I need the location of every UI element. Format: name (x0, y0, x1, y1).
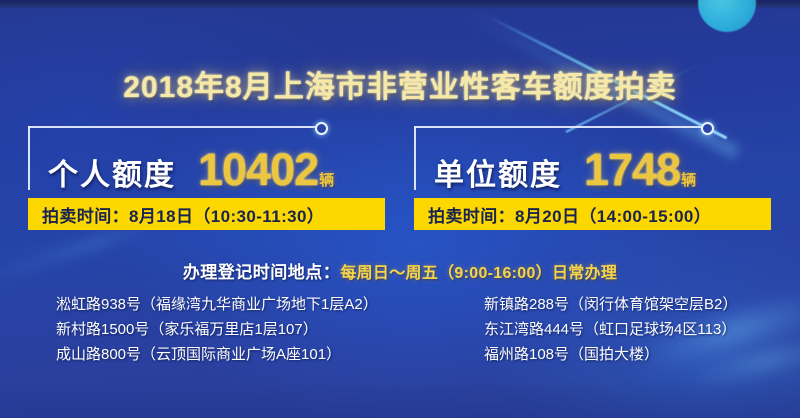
quota-label: 个人额度 (48, 150, 176, 194)
registration-line: 办理登记时间地点：每周日～周五（9:00-16:00）日常办理 (0, 258, 800, 283)
auction-time-text: 拍卖时间：8月20日（14:00-15:00） (428, 202, 711, 227)
address-item: 新镇路288号（闵行体育馆架空层B2） (484, 292, 737, 317)
auction-poster: 2018年8月上海市非营业性客车额度拍卖 个人额度 10402 辆 拍卖时间：8… (0, 0, 800, 418)
page-title: 2018年8月上海市非营业性客车额度拍卖 (0, 62, 800, 106)
address-item: 福州路108号（国拍大楼） (484, 342, 737, 367)
cyan-orb-icon (698, 0, 756, 32)
quota-row: 个人额度 10402 辆 (48, 144, 334, 196)
quota-number: 1748 (584, 144, 680, 196)
quota-unit: 辆 (681, 169, 696, 190)
address-item: 淞虹路938号（福缘湾九华商业广场地下1层A2） (56, 292, 378, 317)
bracket-node-circle-icon (701, 122, 714, 135)
address-item: 成山路800号（云顶国际商业广场A座101） (56, 342, 378, 367)
bracket-left-line (28, 126, 30, 190)
top-band-decoration (0, 0, 800, 9)
quota-number: 10402 (198, 144, 318, 196)
address-item: 新村路1500号（家乐福万里店1层107） (56, 317, 378, 342)
registration-value: 每周日～周五（9:00-16:00）日常办理 (340, 265, 617, 282)
quota-panel-personal: 个人额度 10402 辆 拍卖时间：8月18日（10:30-11:30） (22, 126, 387, 230)
bracket-node-circle-icon (315, 122, 328, 135)
bracket-top-line (414, 126, 706, 128)
bracket-left-line (414, 126, 416, 190)
address-item: 东江湾路444号（虹口足球场4区113） (484, 317, 737, 342)
bottom-band-decoration (0, 380, 800, 418)
auction-time-text: 拍卖时间：8月18日（10:30-11:30） (42, 202, 324, 227)
quota-label: 单位额度 (434, 150, 562, 194)
quota-row: 单位额度 1748 辆 (434, 144, 696, 196)
quota-unit: 辆 (319, 169, 334, 190)
address-column-right: 新镇路288号（闵行体育馆架空层B2） 东江湾路444号（虹口足球场4区113）… (484, 292, 737, 367)
bracket-top-line (28, 126, 320, 128)
address-column-left: 淞虹路938号（福缘湾九华商业广场地下1层A2） 新村路1500号（家乐福万里店… (56, 292, 378, 367)
quota-panel-company: 单位额度 1748 辆 拍卖时间：8月20日（14:00-15:00） (408, 126, 773, 230)
registration-label: 办理登记时间地点： (183, 263, 341, 282)
auction-time-banner: 拍卖时间：8月18日（10:30-11:30） (28, 198, 385, 230)
auction-time-banner: 拍卖时间：8月20日（14:00-15:00） (414, 198, 771, 230)
